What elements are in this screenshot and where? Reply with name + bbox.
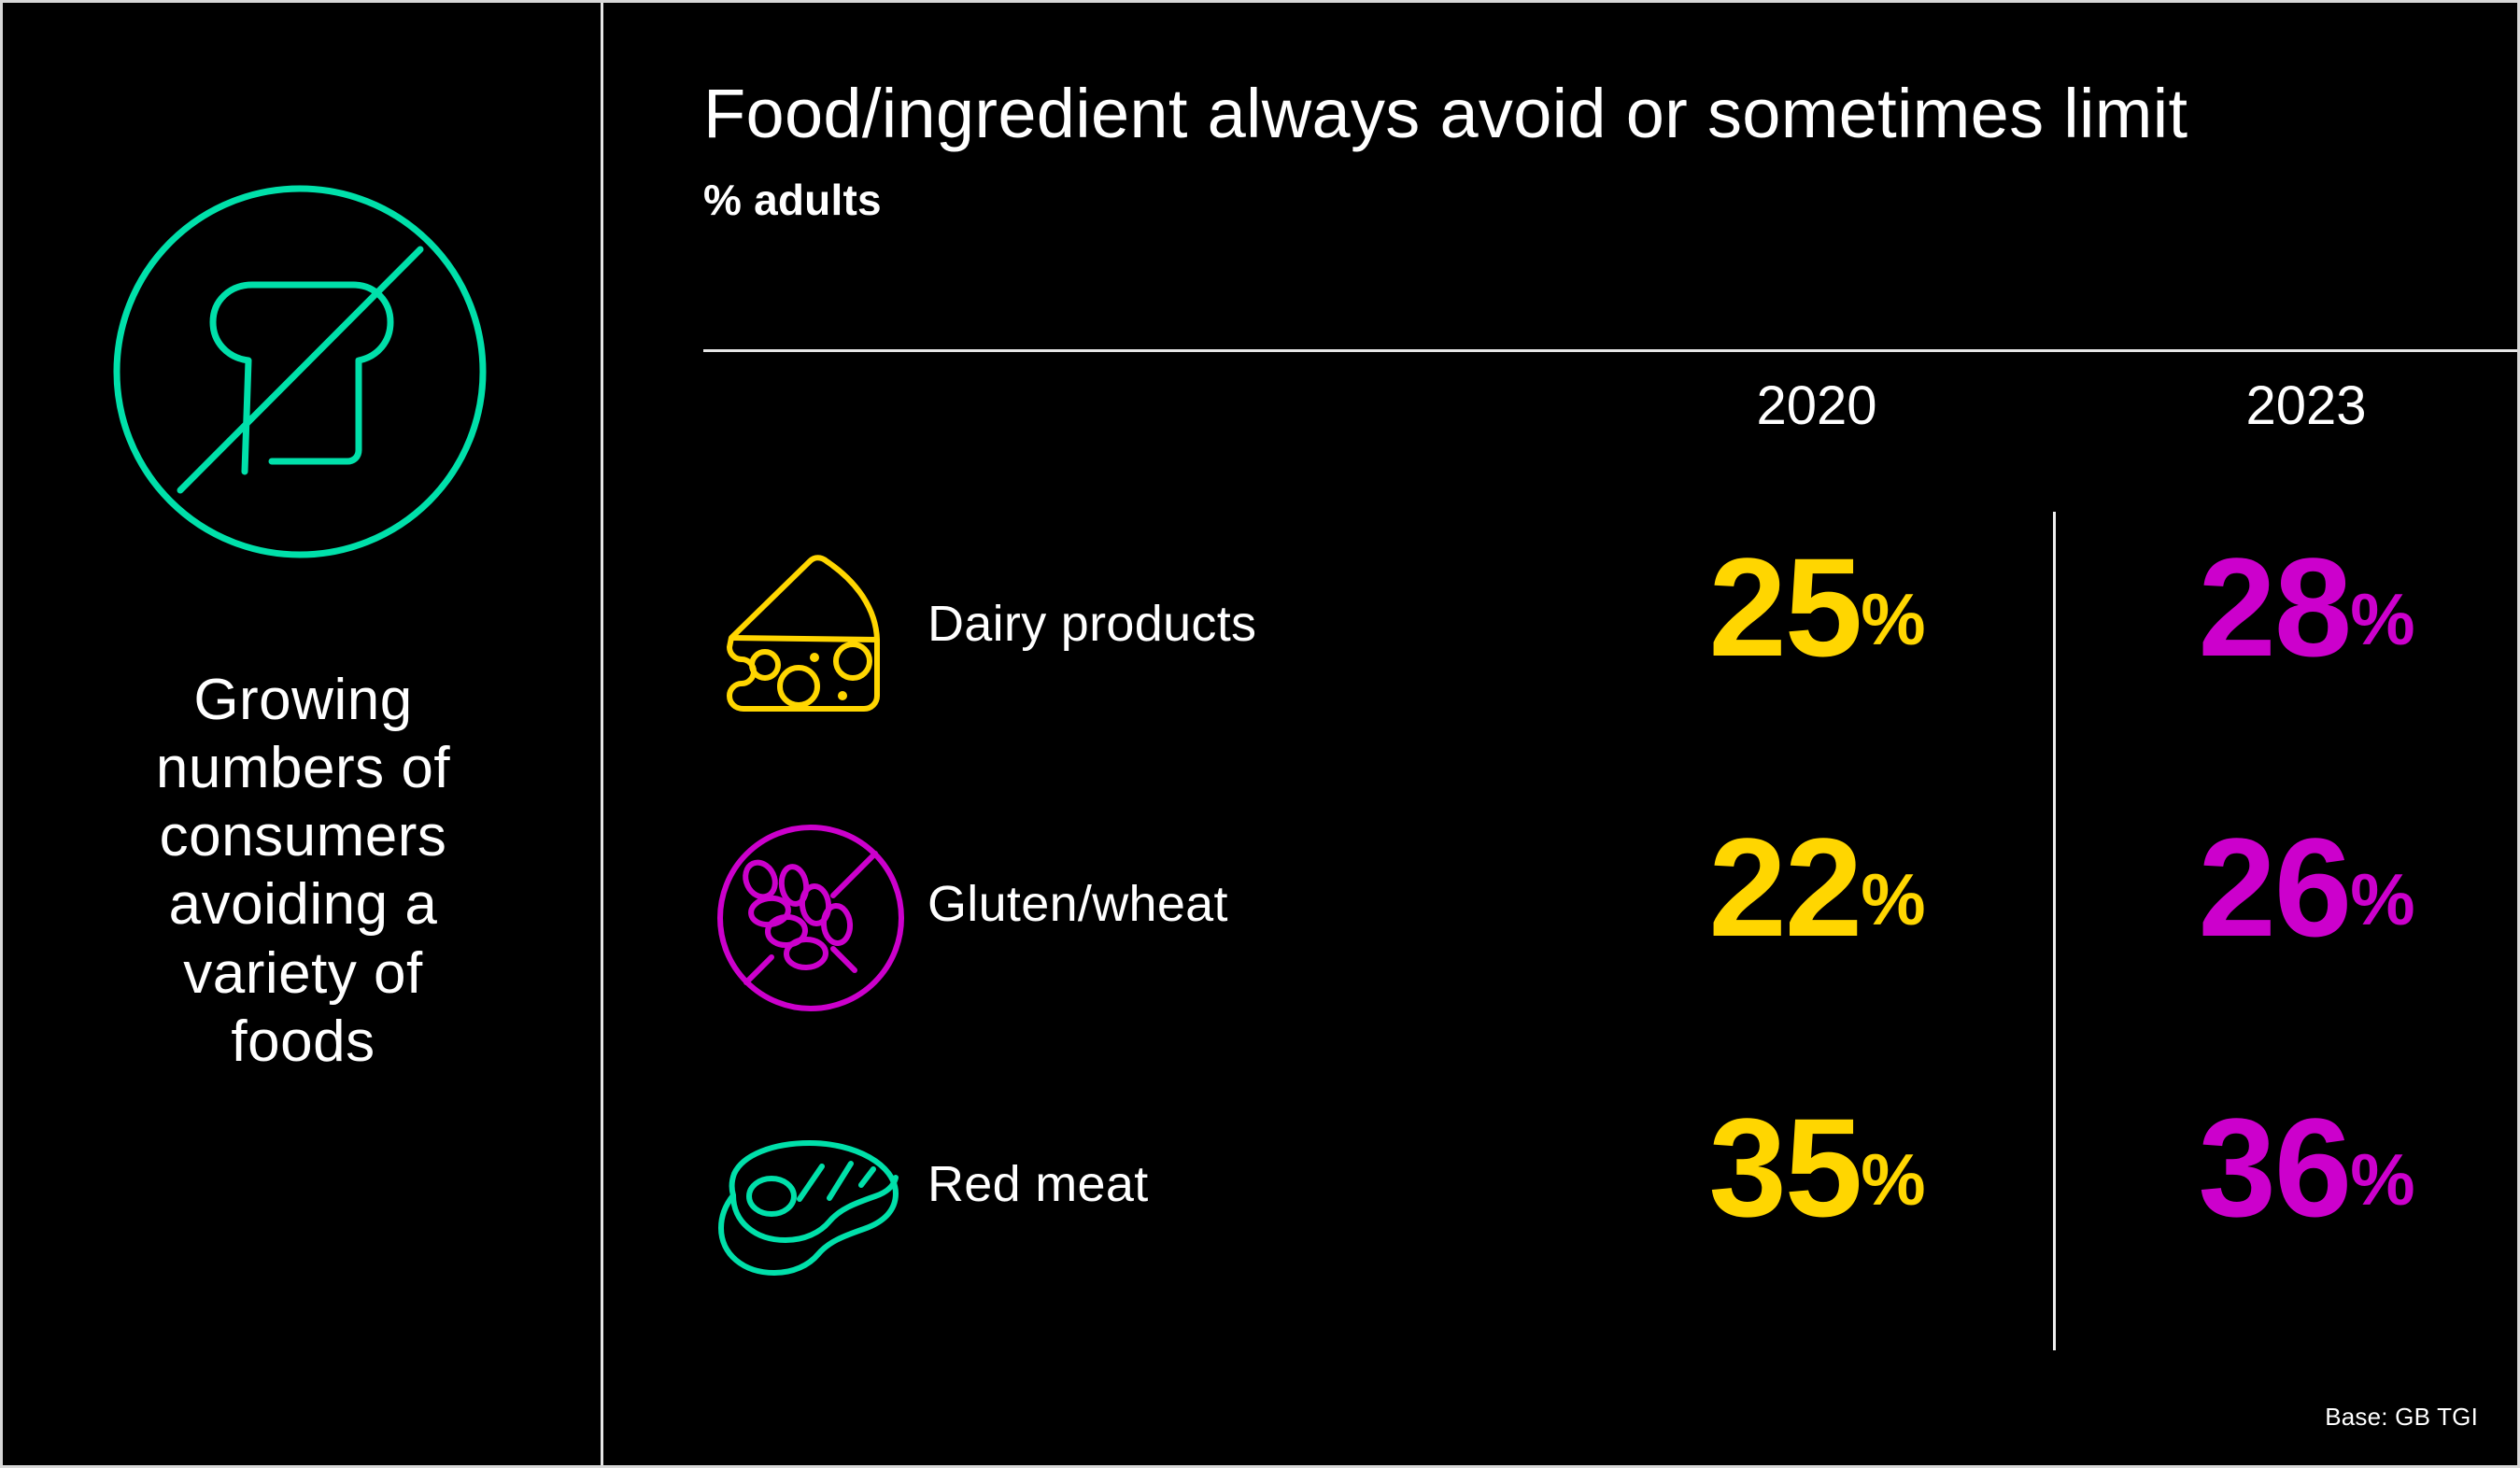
table-row: Red meat 35% 36% [606, 1088, 2517, 1303]
page-title: Food/ingredient always avoid or sometime… [703, 78, 2480, 150]
no-wheat-grain-icon [713, 815, 913, 1016]
column-header-2020: 2020 [1621, 374, 2013, 437]
left-panel: Growing numbers of consumers avoiding a … [3, 3, 603, 1465]
table-row: Gluten/wheat 22% 26% [606, 808, 2517, 1023]
value-number: 36 [2198, 1089, 2350, 1246]
title-block: Food/ingredient always avoid or sometime… [703, 78, 2480, 225]
no-bread-icon [108, 180, 491, 563]
value-number: 28 [2198, 529, 2350, 685]
source-footnote: Base: GB TGI [2325, 1403, 2478, 1432]
value-number: 25 [1708, 529, 1861, 685]
value-2023-dairy: 28% [2110, 537, 2502, 677]
caption-line: Growing [40, 666, 566, 734]
cheese-wedge-icon [713, 535, 913, 736]
value-number: 35 [1708, 1089, 1861, 1246]
chart-subtitle: % adults [703, 175, 2480, 225]
title-divider [703, 349, 2517, 352]
row-label-red-meat: Red meat [927, 1155, 1581, 1213]
caption-line: consumers [40, 802, 566, 870]
value-number: 26 [2198, 809, 2350, 966]
caption-line: foods [40, 1008, 566, 1076]
caption-line: avoiding a [40, 870, 566, 939]
steak-icon [713, 1095, 913, 1296]
value-number: 22 [1708, 809, 1861, 966]
percent-sign: % [1861, 858, 1924, 940]
percent-sign: % [2350, 578, 2414, 660]
table-row: Dairy products 25% 28% [606, 528, 2517, 742]
sidebar-caption: Growing numbers of consumers avoiding a … [40, 666, 566, 1076]
percent-sign: % [2350, 1138, 2414, 1221]
percent-sign: % [1861, 578, 1924, 660]
value-2023-red-meat: 36% [2110, 1097, 2502, 1237]
row-label-dairy: Dairy products [927, 595, 1581, 653]
row-label-gluten: Gluten/wheat [927, 875, 1581, 933]
value-2023-gluten: 26% [2110, 817, 2502, 957]
value-2020-dairy: 25% [1621, 537, 2013, 677]
percent-sign: % [1861, 1138, 1924, 1221]
percent-sign: % [2350, 858, 2414, 940]
year-header-row: 2020 2023 [606, 374, 2517, 487]
column-header-2023: 2023 [2110, 374, 2502, 437]
value-2020-red-meat: 35% [1621, 1097, 2013, 1237]
caption-line: numbers of [40, 734, 566, 802]
value-2020-gluten: 22% [1621, 817, 2013, 957]
right-panel: Food/ingredient always avoid or sometime… [606, 3, 2517, 1465]
infographic-slide: Growing numbers of consumers avoiding a … [0, 0, 2520, 1468]
caption-line: variety of [40, 939, 566, 1008]
